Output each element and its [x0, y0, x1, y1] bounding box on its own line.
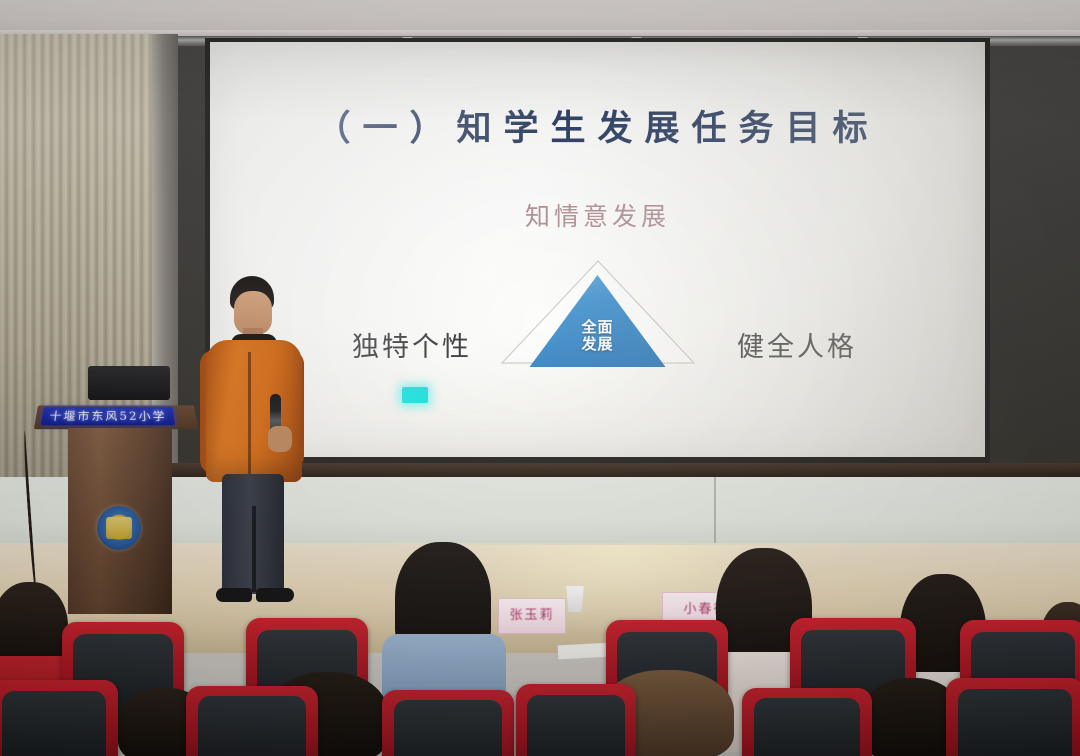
auditorium-seat[interactable] — [382, 690, 514, 756]
projection-screen[interactable]: （一）知学生发展任务目标 知情意发展 全面 发展 独特个性 健全人格 — [210, 42, 985, 457]
slide-subtitle: 知情意发展 — [210, 197, 985, 233]
lower-wall-seam — [714, 477, 716, 547]
auditorium-seat[interactable] — [0, 680, 118, 756]
auditorium-seat[interactable] — [946, 678, 1080, 756]
triangle-label-line1: 全面 — [581, 319, 613, 336]
presenter-hand — [268, 426, 292, 452]
ceiling — [0, 0, 1080, 34]
presenter-jacket-zipper — [248, 352, 251, 478]
podium-led-sign: 十堰市东风52小学 — [41, 407, 175, 425]
auditorium-seat[interactable] — [186, 686, 318, 756]
podium-top-surface: 十堰市东风52小学 — [34, 405, 198, 429]
audience-area — [0, 560, 1080, 756]
triangle-diagram: 全面 发展 — [498, 257, 698, 367]
cyan-highlight-marker[interactable] — [402, 387, 428, 403]
podium-laptop[interactable] — [88, 366, 170, 400]
podium-sign-text: 十堰市东风52小学 — [41, 407, 175, 425]
school-crest-emblem-icon — [97, 506, 141, 550]
presenter-orange-jacket — [206, 340, 302, 482]
slide-title: （一）知学生发展任务目标 — [210, 100, 985, 151]
auditorium-seat[interactable] — [516, 684, 636, 756]
slide-right-label: 健全人格 — [737, 325, 857, 364]
auditorium-presentation-scene: （一）知学生发展任务目标 知情意发展 全面 发展 独特个性 健全人格 十堰市东风… — [0, 0, 1080, 756]
slide-left-label: 独特个性 — [352, 325, 472, 364]
triangle-label: 全面 发展 — [581, 319, 613, 353]
presenter — [186, 276, 314, 608]
auditorium-seat[interactable] — [742, 688, 872, 756]
triangle-label-line2: 发展 — [581, 336, 613, 353]
